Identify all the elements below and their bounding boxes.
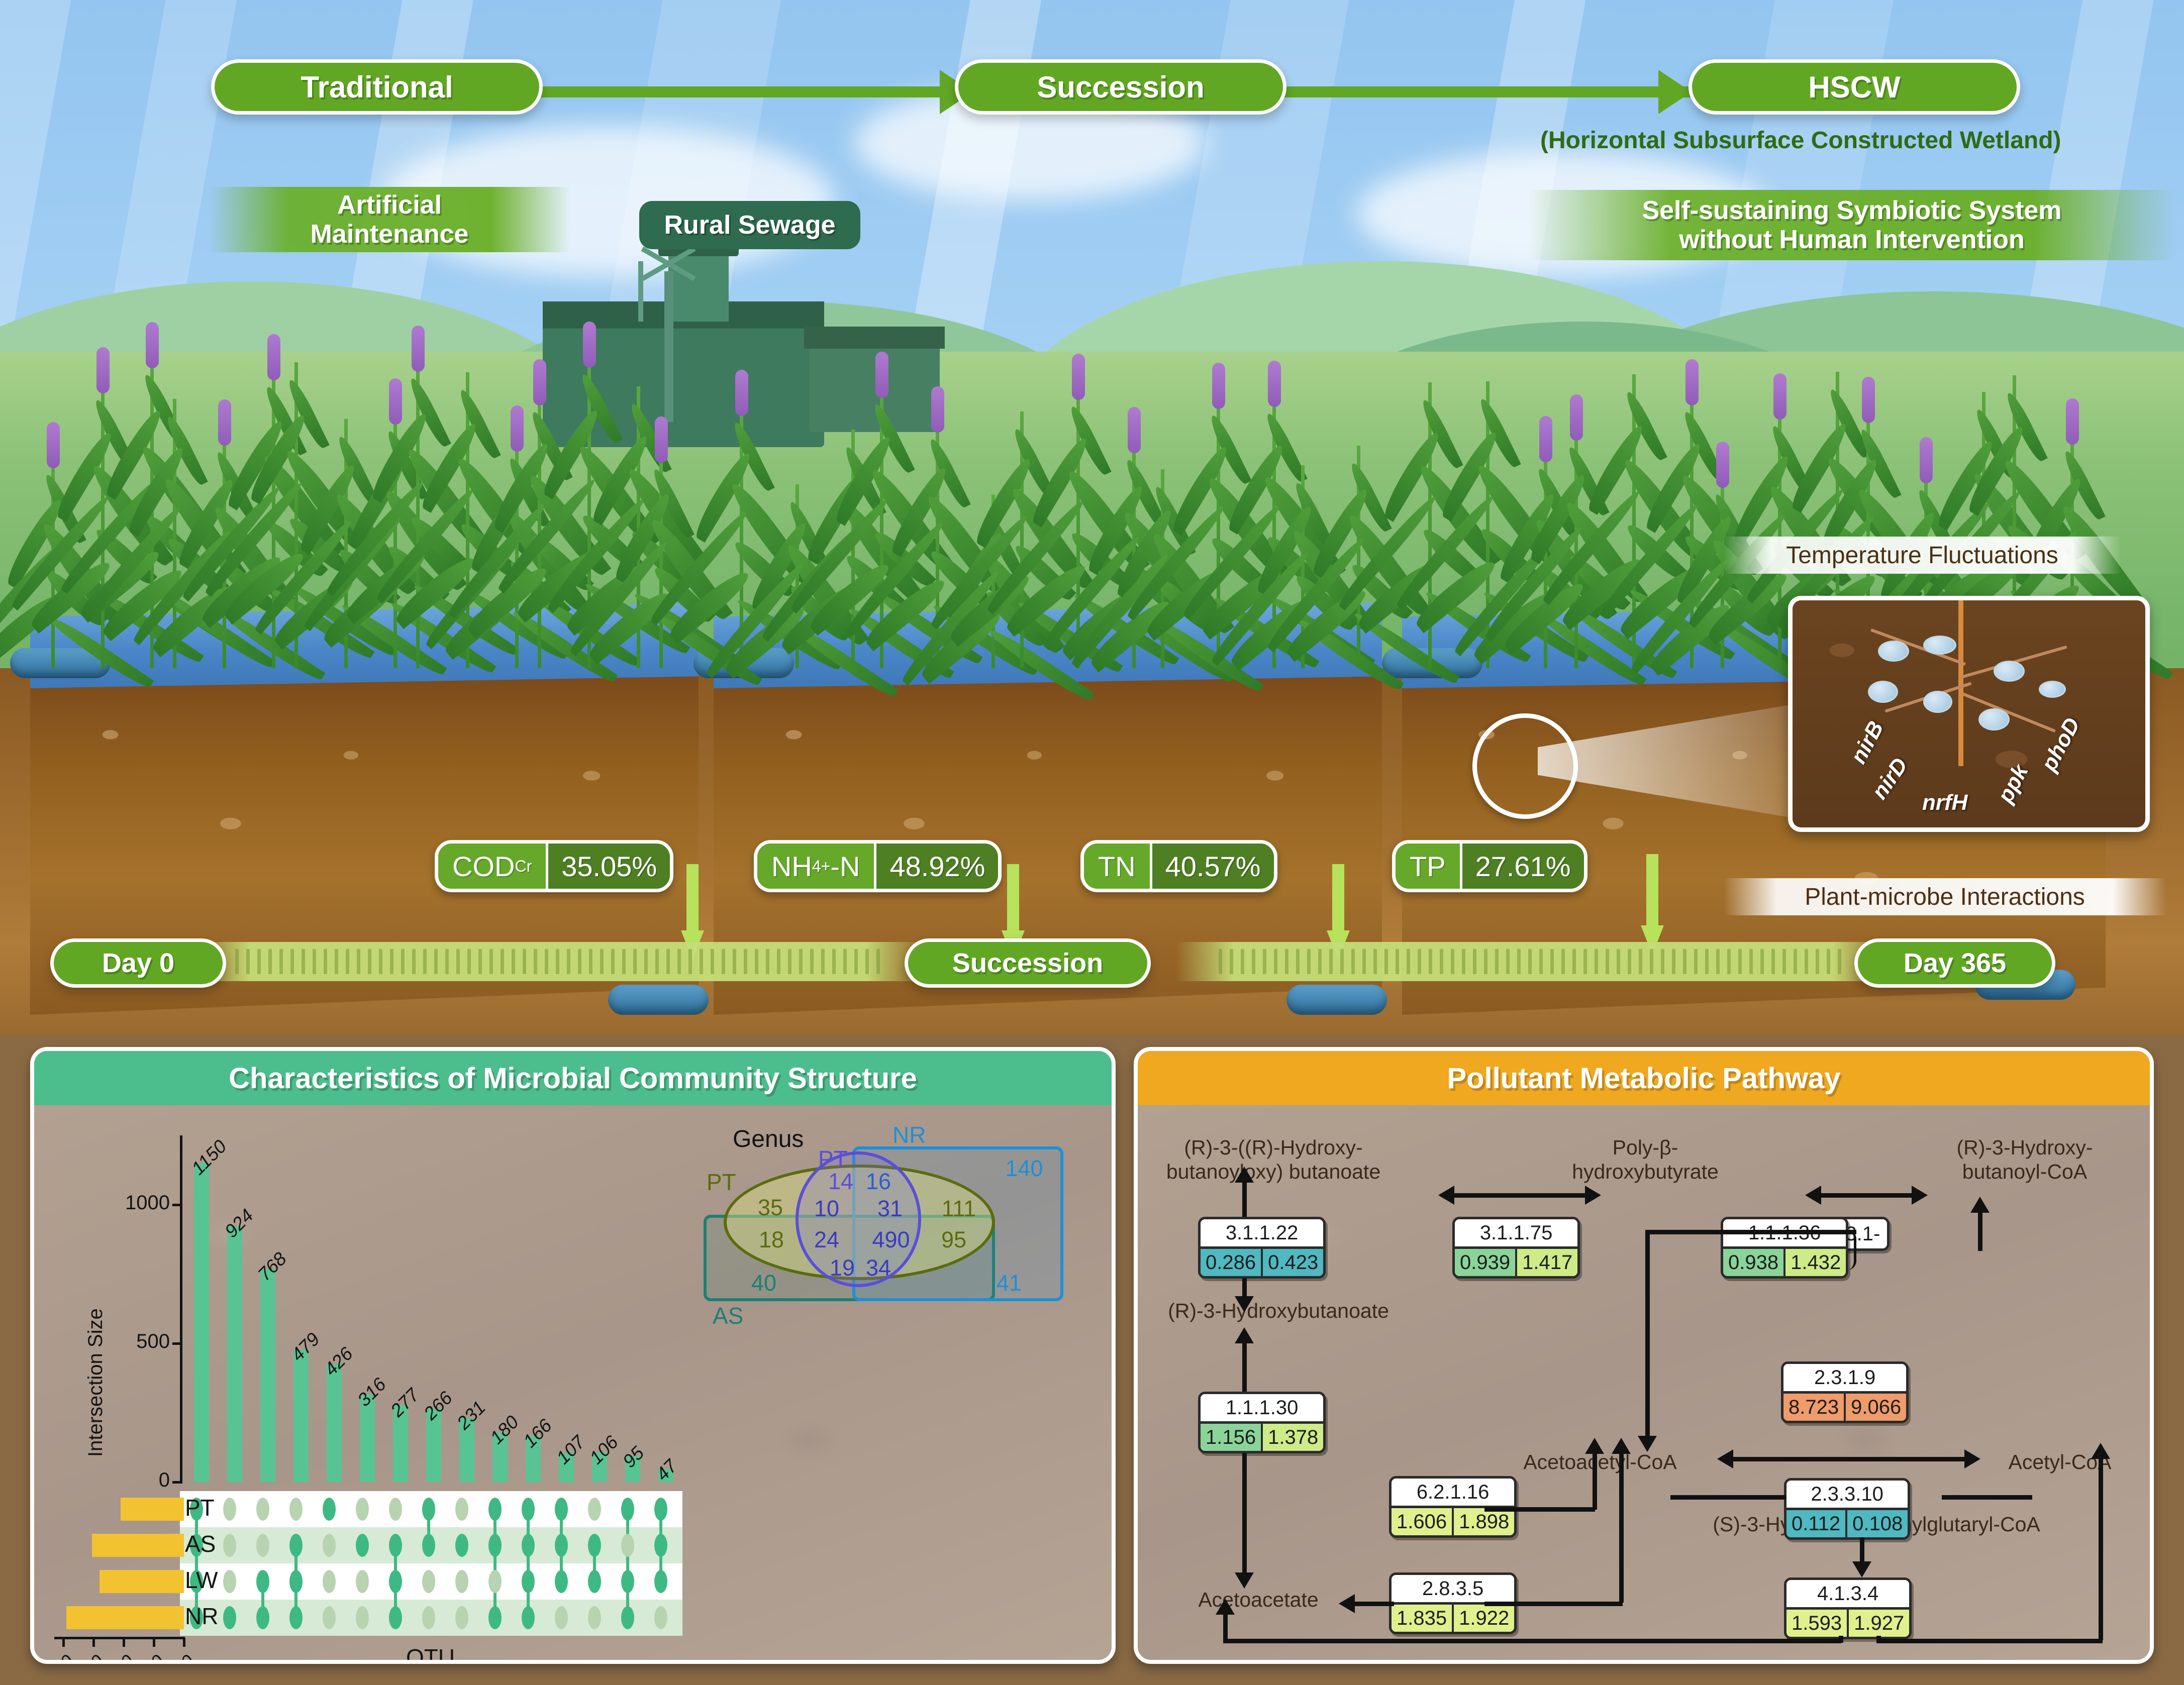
enzyme-3.1.1.22[interactable]: 3.1.1.22 0.286 0.423	[1198, 1217, 1326, 1279]
enzyme-2.8.3.5-v2: 1.922	[1454, 1605, 1514, 1632]
upset-matrix-dot[interactable]	[621, 1570, 634, 1593]
timeline-ruler-left	[191, 942, 925, 981]
upset-matrix-dot[interactable]	[654, 1570, 667, 1593]
silo	[668, 251, 729, 322]
upset-set-axis-tick	[92, 1638, 95, 1647]
outlet-pipe-2	[1286, 985, 1387, 1015]
reed-flower	[875, 352, 888, 398]
enzyme-2.3.3.10-v2: 0.108	[1847, 1510, 1908, 1537]
badge-tp[interactable]: TP 27.61%	[1392, 840, 1587, 892]
upset-matrix-dot[interactable]	[522, 1534, 535, 1557]
enzyme-4.1.3.4-values: 1.593 1.927	[1786, 1607, 1909, 1637]
bottom-line-2-v	[1839, 1636, 1843, 1643]
upset-matrix-dot[interactable]	[455, 1534, 468, 1557]
upset-matrix-dot[interactable]	[356, 1498, 369, 1521]
rural-sewage-text: Rural Sewage	[664, 210, 835, 240]
upset-matrix-dot[interactable]	[488, 1570, 502, 1593]
upset-matrix-dot[interactable]	[256, 1498, 269, 1521]
upset-matrix-dot[interactable]	[654, 1534, 667, 1557]
plant-microbe-interactions-text: Plant-microbe Interactions	[1805, 883, 2085, 911]
upset-matrix-dot[interactable]	[588, 1606, 601, 1629]
enzyme-1.1.1.30[interactable]: 1.1.1.30 1.156 1.378	[1198, 1392, 1326, 1453]
enzyme-3.1.1.22-values: 0.286 0.423	[1201, 1246, 1323, 1276]
enzyme-3.1.1.75[interactable]: 3.1.1.75 0.939 1.417	[1452, 1217, 1580, 1279]
arrow-to-m1	[1242, 1181, 1247, 1217]
badge-tp-key: TP	[1396, 844, 1460, 889]
timeline-day365[interactable]: Day 365	[1854, 938, 2055, 988]
upset-matrix-dot[interactable]	[455, 1606, 468, 1629]
upset-bar[interactable]	[194, 1163, 209, 1482]
upset-matrix-dot[interactable]	[323, 1498, 336, 1521]
reed-flower	[47, 422, 60, 468]
timeline-succession[interactable]: Succession	[905, 938, 1151, 988]
reed-flower	[389, 378, 402, 425]
plant-microbe-inset: nirB nirD nrfH ppk phoD	[1788, 596, 2150, 832]
enzyme-3.1.1.75-v2: 1.417	[1517, 1249, 1577, 1276]
metabolite-m3-l1: (R)-3-Hydroxy-	[1907, 1135, 2143, 1160]
upset-bar-value: 426	[320, 1343, 357, 1380]
venn-value-16: 16	[858, 1169, 899, 1195]
venn-value-18: 18	[749, 1227, 794, 1253]
upset-matrix-dot[interactable]	[555, 1498, 568, 1521]
upset-bar-value: 47	[652, 1455, 681, 1485]
hscw-expansion: (Horizontal Subsurface Constructed Wetla…	[1540, 127, 2061, 154]
microbe	[1868, 681, 1898, 703]
arrow-m2-m3-head-right	[1912, 1186, 1928, 1205]
upset-set-axis-ticklabel: 4000	[30, 1651, 78, 1664]
windmill-tower	[664, 271, 673, 422]
upset-matrix-dot[interactable]	[555, 1534, 568, 1557]
arrow-2.3.3.10-down-head	[1852, 1561, 1871, 1577]
enzyme-6.2.1.16-v2: 1.898	[1454, 1508, 1514, 1535]
upset-matrix-dot[interactable]	[256, 1534, 269, 1557]
timeline-day0[interactable]: Day 0	[50, 938, 226, 988]
reed-flower	[511, 405, 524, 452]
badge-tn-key: TN	[1084, 844, 1150, 889]
upset-bar[interactable]	[293, 1349, 309, 1482]
badge-cod-subscript: Cr	[515, 857, 532, 876]
upset-x-axis-label: OTUs	[406, 1644, 463, 1664]
flow-arrow-2	[1658, 70, 1692, 114]
upset-bar[interactable]	[227, 1226, 242, 1482]
stage-label-traditional: Traditional	[301, 70, 453, 104]
arrow-m1-m2	[1454, 1193, 1585, 1198]
reed-flower	[931, 386, 944, 433]
barn-roof	[804, 327, 945, 349]
arrow-to-m1-head	[1235, 1167, 1254, 1183]
enzyme-4.1.3.4-v1: 1.593	[1786, 1610, 1849, 1637]
upset-connector	[493, 1509, 497, 1618]
enzyme-1.1.1.30-values: 1.156 1.378	[1201, 1421, 1323, 1451]
upset-matrix-dot[interactable]	[422, 1606, 435, 1629]
upset-matrix-dot[interactable]	[621, 1498, 634, 1521]
arrow-6.2.1.16-up-head	[1585, 1438, 1604, 1454]
arrow-6.2.1.16-h	[1484, 1507, 1595, 1512]
microbe	[1994, 661, 2025, 682]
badge-cod-value: 35.05%	[546, 844, 670, 889]
arrow-2.8.3.5-to-acetoacetate	[1354, 1602, 1394, 1606]
upset-matrix-dot[interactable]	[356, 1534, 369, 1557]
stage-pill-hscw[interactable]: HSCW	[1689, 59, 2020, 115]
barn	[809, 342, 940, 432]
venn-label-pt-olive: PT	[707, 1169, 736, 1196]
panel-right-title: Pollutant Metabolic Pathway	[1138, 1051, 2150, 1105]
gene-label-nirD: nirD	[1867, 754, 1913, 804]
upset-matrix-dot[interactable]	[422, 1498, 435, 1521]
microbe	[1978, 708, 2010, 730]
upset-bar[interactable]	[327, 1364, 342, 1482]
upset-set-axis-ticklabel: 3000	[40, 1651, 109, 1664]
enzyme-1.1.1.30-v1: 1.156	[1201, 1424, 1263, 1451]
enzyme-1.1.1.30-code: 1.1.1.30	[1201, 1394, 1323, 1421]
badge-cod-key-text: COD	[452, 850, 515, 883]
enzyme-2.3.1.9-code: 2.3.1.9	[1783, 1364, 1906, 1391]
upset-bar-value: 266	[420, 1388, 456, 1424]
arrow-136-h	[1645, 1230, 1856, 1234]
upset-set-axis-ticklabel: 2000	[70, 1651, 139, 1664]
venn-value-34: 34	[858, 1255, 899, 1281]
upset-matrix-dot[interactable]	[588, 1534, 601, 1557]
enzyme-2.3.1.9-values: 8.723 9.066	[1783, 1391, 1906, 1421]
bottom-line-3-v	[1876, 1636, 1881, 1643]
reed-flower	[2066, 398, 2079, 445]
upset-matrix-dot[interactable]	[256, 1570, 269, 1593]
upset-bar-value: 107	[552, 1432, 589, 1468]
arrow-m2-m3	[1821, 1193, 1912, 1198]
arrow-1130-up-head	[1235, 1327, 1254, 1343]
reed-flower	[1716, 442, 1729, 488]
upset-set-axis-ticklabel: 1000	[101, 1651, 169, 1664]
reed-flower	[583, 322, 596, 368]
upset-y-tickmark	[172, 1204, 182, 1206]
pathway-diagram: (R)-3-((R)-Hydroxy- butanoyloxy) butanoa…	[1138, 1105, 2154, 1664]
root-branch	[1961, 692, 2056, 732]
arrow-to-m4-head	[1235, 1296, 1254, 1312]
upset-bar-value: 231	[453, 1397, 489, 1434]
enzyme-4.1.3.4-v2: 1.927	[1849, 1610, 1909, 1637]
upset-matrix-dot[interactable]	[522, 1498, 535, 1521]
upset-matrix-dot[interactable]	[422, 1570, 435, 1593]
bottom-line-1-head	[1216, 1599, 1235, 1615]
bottom-line-1	[1223, 1639, 1841, 1643]
arrow-aacoa-head-left	[1717, 1449, 1733, 1468]
arrow-aacoa-head-right	[1964, 1449, 1980, 1468]
badge-tp-value: 27.61%	[1460, 844, 1584, 889]
upset-set-axis-tick	[123, 1638, 125, 1647]
upset-bar-value: 180	[486, 1411, 523, 1448]
upset-matrix-dot[interactable]	[621, 1606, 634, 1629]
arrow-136-v	[1645, 1230, 1650, 1441]
enzyme-3.1.1.22-v2: 0.423	[1263, 1249, 1323, 1276]
arrow-2.8.3.5-v-head	[1612, 1438, 1631, 1454]
venn-value-140: 140	[994, 1155, 1054, 1182]
upset-connector	[195, 1509, 198, 1618]
upset-y-tickmark	[172, 1342, 182, 1345]
reed-flower	[655, 416, 668, 463]
upset-matrix-dot[interactable]	[356, 1570, 369, 1593]
bottom-line-4-head	[2091, 1443, 2110, 1459]
self-sustaining-line2: without Human Intervention	[1679, 225, 2025, 254]
microbe	[1923, 636, 1956, 655]
gene-label-nirB: nirB	[1846, 717, 1889, 768]
upset-y-tick: 500	[105, 1330, 170, 1353]
badge-nh4n-value: 48.92%	[874, 844, 998, 889]
upset-set-axis-tick	[62, 1638, 65, 1647]
arrow-136-head	[1638, 1436, 1657, 1452]
upset-matrix-dot[interactable]	[488, 1606, 502, 1629]
upset-bar[interactable]	[260, 1269, 275, 1482]
upset-matrix-dot[interactable]	[654, 1606, 667, 1629]
arrow-6.2.1.16-up	[1593, 1452, 1597, 1510]
venn-label-as: AS	[713, 1302, 743, 1329]
upset-set-axis	[54, 1637, 185, 1639]
upset-matrix-dot[interactable]	[555, 1570, 568, 1593]
venn-value-40: 40	[739, 1270, 789, 1296]
plant-microbe-interactions-label: Plant-microbe Interactions	[1724, 878, 2166, 915]
metabolite-m1-l2: butanoyloxy) butanoate	[1148, 1160, 1399, 1184]
upset-matrix	[180, 1491, 682, 1636]
enzyme-3.1.1.22-code: 3.1.1.22	[1201, 1219, 1323, 1246]
upset-set-label-nr: NR	[185, 1603, 218, 1630]
reed-flower	[412, 326, 425, 372]
venn-value-19: 19	[822, 1255, 862, 1281]
enzyme-4.1.3.4-code: 4.1.3.4	[1786, 1580, 1909, 1607]
upset-bar-value: 479	[287, 1328, 324, 1365]
enzyme-6.2.1.16-v1: 1.606	[1392, 1508, 1454, 1535]
upset-matrix-dot[interactable]	[289, 1534, 303, 1557]
gene-label-nrfH: nrfH	[1922, 790, 1967, 815]
upset-bar-value: 277	[386, 1385, 423, 1421]
metabolite-m1-l1: (R)-3-((R)-Hydroxy-	[1148, 1135, 1399, 1160]
upset-matrix-dot[interactable]	[223, 1534, 236, 1557]
venn-value-35: 35	[745, 1195, 796, 1221]
upset-matrix-dot[interactable]	[223, 1570, 236, 1593]
badge-nh4n[interactable]: NH4+-N 48.92%	[754, 840, 1002, 892]
venn-label-nr: NR	[892, 1121, 926, 1148]
upset-matrix-dot[interactable]	[654, 1498, 667, 1521]
metabolite-m2-l2: hydroxybutyrate	[1535, 1160, 1756, 1184]
badge-tn-value: 40.57%	[1150, 844, 1274, 889]
otus-text: OTU	[406, 1644, 455, 1664]
upset-matrix-dot[interactable]	[356, 1606, 369, 1629]
upset-matrix-dot[interactable]	[522, 1570, 535, 1593]
stage-pill-succession[interactable]: Succession	[955, 59, 1286, 115]
upset-connector	[626, 1509, 629, 1618]
reed-flower	[1072, 354, 1085, 400]
enzyme-2.8.3.5-code: 2.8.3.5	[1392, 1575, 1514, 1602]
self-sustaining-banner: Self-sustaining Symbiotic System without…	[1528, 190, 2176, 260]
upset-y-axis-label: Intersection Size	[84, 1308, 107, 1457]
arrow-1130-down	[1242, 1453, 1247, 1578]
panel-left-title-text: Characteristics of Microbial Community S…	[229, 1062, 917, 1095]
upset-bar-value: 166	[519, 1415, 556, 1452]
upset-set-size-bar[interactable]	[121, 1498, 184, 1521]
stage-pill-traditional[interactable]: Traditional	[211, 59, 543, 115]
upset-y-tick: 0	[105, 1469, 170, 1492]
venn-value-490: 490	[858, 1227, 924, 1253]
upset-matrix-dot[interactable]	[323, 1606, 336, 1629]
reed-flower	[1685, 359, 1699, 405]
badge-cod-key: CODCr	[438, 844, 546, 889]
windmill-blade	[638, 261, 643, 322]
upset-set-label-lw: LW	[185, 1566, 218, 1594]
upset-connector	[527, 1509, 530, 1618]
enzyme-4.1.3.4[interactable]: 4.1.3.4 1.593 1.927	[1784, 1577, 1912, 1639]
bottom-line-3	[1876, 1639, 2103, 1643]
upset-matrix-dot[interactable]	[289, 1606, 303, 1629]
venn-diagram: 140 35 14 16 111 10 31 18 24 490 95 19 3…	[692, 1125, 1079, 1336]
rural-sewage-label[interactable]: Rural Sewage	[639, 201, 860, 249]
stage-label-succession: Succession	[1037, 70, 1205, 104]
upset-matrix-dot[interactable]	[289, 1570, 303, 1593]
enzyme-2.8.3.5-values: 1.835 1.922	[1392, 1602, 1514, 1632]
upset-matrix-dot[interactable]	[223, 1498, 236, 1521]
enzyme-2.3.3.10-v1: 0.112	[1786, 1510, 1847, 1537]
reed-flower	[1128, 407, 1141, 453]
reed-flower	[1862, 377, 1875, 423]
microbe	[1923, 691, 1952, 713]
self-sustaining-line1: Self-sustaining Symbiotic System	[1642, 196, 2061, 225]
upset-set-size-bar[interactable]	[66, 1606, 184, 1629]
reed-flower	[267, 334, 280, 380]
enzyme-2.3.3.10[interactable]: 2.3.3.10 0.112 0.108	[1784, 1478, 1910, 1540]
arrow-m3-down	[1978, 1211, 1982, 1251]
enzyme-2.3.1.9[interactable]: 2.3.1.9 8.723 9.066	[1781, 1361, 1909, 1423]
upset-matrix-dot[interactable]	[588, 1498, 601, 1521]
badge-tn[interactable]: TN 40.57%	[1080, 840, 1277, 892]
microbe	[1878, 641, 1909, 662]
arrow-m1-m2-head-left	[1438, 1186, 1454, 1205]
artificial-maintenance-line1: Artificial	[337, 190, 442, 220]
gene-label-ppk: ppk	[1993, 761, 2034, 807]
venn-value-10: 10	[804, 1196, 849, 1222]
upset-set-axis-tick	[153, 1638, 155, 1647]
upset-set-label-pt: PT	[185, 1494, 215, 1521]
upset-matrix-dot[interactable]	[223, 1606, 236, 1629]
temperature-fluctuations-text: Temperature Fluctuations	[1786, 542, 2058, 569]
upset-bar-value: 95	[619, 1442, 648, 1472]
reed-flower	[1570, 394, 1583, 441]
enzyme-2.3.1.9-v1: 8.723	[1783, 1394, 1846, 1421]
outlet-pipe-1	[608, 985, 709, 1015]
reed-flower	[735, 370, 748, 416]
metabolite-m3-l2: butanoyl-CoA	[1907, 1160, 2143, 1184]
badge-cod[interactable]: CODCr 35.05%	[435, 840, 673, 892]
venn-value-41: 41	[984, 1270, 1034, 1296]
arrow-2.3.3.10-bracket	[1670, 1495, 1786, 1500]
upset-matrix-dot[interactable]	[289, 1498, 303, 1521]
upset-matrix-dot[interactable]	[256, 1606, 269, 1629]
arrow-m3-up-head	[1970, 1197, 1990, 1213]
upset-plot: Intersection Size 1150924768479426316277…	[34, 1105, 1116, 1664]
arrow-1130-down-head	[1235, 1572, 1254, 1589]
upset-matrix-dot[interactable]	[588, 1570, 601, 1593]
upset-matrix-dot[interactable]	[323, 1570, 336, 1593]
upset-matrix-dot[interactable]	[389, 1534, 402, 1557]
upset-set-axis-ticklabel: 0	[131, 1651, 199, 1664]
removal-arrow-4	[1641, 854, 1664, 955]
upset-y-tickmark	[172, 1481, 182, 1484]
upset-matrix-dot[interactable]	[422, 1534, 435, 1557]
reed-flower	[533, 359, 546, 405]
upset-matrix-dot[interactable]	[555, 1606, 568, 1629]
arrow-2.8.3.5-head	[1339, 1594, 1355, 1613]
upset-y-axis	[180, 1135, 182, 1482]
panel-metabolic-pathway: Pollutant Metabolic Pathway (R)-3-((R)-H…	[1134, 1047, 2154, 1664]
artificial-maintenance-line2: Maintenance	[311, 220, 469, 249]
timeline-ruler-right	[1176, 942, 1890, 981]
upset-matrix-dot[interactable]	[323, 1534, 336, 1557]
venn-value-31: 31	[867, 1196, 913, 1222]
metabolite-m3: (R)-3-Hydroxy- butanoyl-CoA	[1907, 1135, 2143, 1184]
ruler-ticks	[235, 949, 881, 974]
metabolite-m4: (R)-3-Hydroxybutanoate	[1148, 1299, 1409, 1323]
enzyme-3.1.1.75-code: 3.1.1.75	[1455, 1219, 1577, 1246]
flow-connector-2	[1281, 86, 1694, 97]
metabolite-m6: Acetyl-CoA	[1977, 1450, 2143, 1474]
venn-value-111: 111	[929, 1196, 989, 1222]
timeline-day365-text: Day 365	[1904, 947, 2006, 979]
arrow-1130-up	[1242, 1341, 1247, 1392]
upset-set-size-bar[interactable]	[100, 1570, 184, 1593]
upset-set-label-as: AS	[185, 1530, 216, 1557]
metabolite-m2-l1: Poly-β-	[1535, 1135, 1756, 1160]
arrow-m2-m3-head-left	[1805, 1186, 1821, 1205]
reed-flower	[1920, 437, 1933, 483]
reed-flower	[1539, 416, 1552, 462]
enzyme-3.1.1.75-v1: 0.939	[1455, 1249, 1517, 1276]
reed-flower	[218, 399, 231, 446]
upset-matrix-dot[interactable]	[389, 1570, 402, 1593]
artificial-maintenance-banner: Artificial Maintenance	[209, 187, 570, 252]
arrow-2.8.3.5-h	[1484, 1602, 1623, 1606]
upset-matrix-dot[interactable]	[621, 1534, 634, 1557]
venn-value-95: 95	[929, 1227, 979, 1253]
upset-matrix-dot[interactable]	[488, 1534, 502, 1557]
panel-microbial-community: Characteristics of Microbial Community S…	[30, 1047, 1116, 1664]
arrow-2.3.3.10-bracket-r	[1942, 1495, 2032, 1500]
reed-flower	[1212, 363, 1225, 409]
reed-flower	[96, 347, 110, 393]
venn-value-24: 24	[804, 1227, 849, 1253]
upset-matrix-dot[interactable]	[522, 1606, 535, 1629]
arrow-m1-m2-head-right	[1585, 1186, 1601, 1205]
reed-flower	[1773, 373, 1786, 419]
upset-matrix-dot[interactable]	[389, 1498, 402, 1521]
reed-flower	[1268, 361, 1281, 407]
enzyme-6.2.1.16-code: 6.2.1.16	[1392, 1479, 1514, 1506]
upset-bar-value: 316	[353, 1374, 390, 1410]
badge-nh4n-key: NH4+-N	[757, 844, 874, 889]
upset-set-size-bar[interactable]	[92, 1534, 184, 1557]
upset-matrix-dot[interactable]	[389, 1606, 402, 1629]
upset-matrix-dot[interactable]	[455, 1498, 468, 1521]
timeline-succession-text: Succession	[952, 947, 1103, 979]
panel-right-title-text: Pollutant Metabolic Pathway	[1447, 1062, 1840, 1095]
microbe	[2039, 681, 2066, 698]
upset-matrix-dot[interactable]	[488, 1498, 502, 1521]
reed-flower	[146, 322, 159, 368]
upset-matrix-dot[interactable]	[455, 1570, 468, 1593]
gene-label-phoD: phoD	[2037, 714, 2086, 776]
enzyme-3.1.1.75-values: 0.939 1.417	[1455, 1246, 1577, 1276]
upset-bar-value: 768	[254, 1248, 290, 1285]
enzyme-2.3.1.9-v2: 9.066	[1846, 1394, 1906, 1421]
enzyme-3.1.1.22-v1: 0.286	[1201, 1249, 1263, 1276]
enzyme-1.1.1.30-v2: 1.378	[1263, 1424, 1323, 1451]
flow-connector-1	[533, 86, 975, 97]
upset-y-tick: 1000	[105, 1192, 170, 1214]
